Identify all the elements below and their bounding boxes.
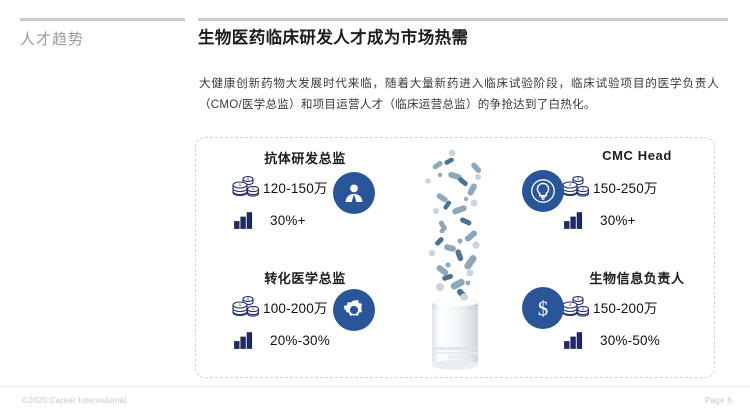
coin-stack-icon: $$$ — [562, 174, 592, 199]
svg-text:$: $ — [239, 303, 241, 307]
page-number: Page 6 — [705, 396, 732, 405]
copyright-text: ©2020 Career International — [22, 396, 126, 405]
coin-stack-icon: $$$ — [562, 294, 592, 319]
role-growth: 30%+ — [232, 212, 306, 229]
role-salary: $$$ 100-200万 — [232, 294, 328, 319]
bar-chart-icon — [564, 212, 583, 229]
svg-text:$: $ — [577, 297, 579, 301]
page-title: 生物医药临床研发人才成为市场热需 — [198, 24, 468, 48]
dollar-icon: $ — [530, 295, 556, 321]
coin-stack-icon: $$$ — [232, 174, 262, 199]
header-rule-left — [20, 18, 185, 21]
growth-value: 30%-50% — [600, 333, 660, 348]
salary-value: 120-150万 — [263, 177, 328, 197]
role-salary: $$$ 150-250万 — [562, 174, 658, 199]
growth-value: 30%+ — [600, 213, 636, 228]
header-rule-right — [198, 18, 728, 21]
section-kicker: 人才趋势 — [20, 28, 84, 49]
svg-text:$: $ — [252, 187, 254, 191]
svg-text:$: $ — [569, 303, 571, 307]
gear-icon-badge — [333, 289, 375, 331]
footer-divider — [0, 386, 750, 387]
svg-text:$: $ — [569, 183, 571, 187]
svg-text:$: $ — [582, 307, 584, 311]
bar-chart-icon — [564, 332, 583, 349]
svg-text:$: $ — [247, 297, 249, 301]
svg-text:$: $ — [239, 183, 241, 187]
growth-value: 30%+ — [270, 213, 306, 228]
intro-paragraph: 大健康创新药物大发展时代来临，随着大量新药进入临床试验阶段，临床试验项目的医学负… — [199, 73, 719, 115]
lightbulb-icon-badge — [522, 170, 564, 212]
person-icon — [342, 181, 366, 205]
gear-icon — [341, 297, 367, 323]
role-title: CMC Head — [552, 148, 722, 163]
bar-chart-icon — [234, 332, 253, 349]
bar-chart-icon — [234, 212, 253, 229]
growth-value: 20%-30% — [270, 333, 330, 348]
coin-stack-icon: $$$ — [232, 294, 262, 319]
svg-text:$: $ — [577, 177, 579, 181]
lightbulb-icon — [530, 178, 556, 204]
role-title: 转化医学总监 — [220, 268, 390, 287]
salary-value: 150-250万 — [593, 177, 658, 197]
dollar-icon-badge: $ — [522, 287, 564, 329]
svg-text:$: $ — [538, 297, 549, 321]
role-salary: $$$ 120-150万 — [232, 174, 328, 199]
role-growth: 20%-30% — [232, 332, 330, 349]
svg-text:$: $ — [252, 307, 254, 311]
svg-text:$: $ — [582, 187, 584, 191]
slide-header: 人才趋势 生物医药临床研发人才成为市场热需 — [0, 0, 750, 62]
svg-text:$: $ — [247, 177, 249, 181]
role-growth: 30%+ — [562, 212, 636, 229]
salary-value: 150-200万 — [593, 297, 658, 317]
role-growth: 30%-50% — [562, 332, 660, 349]
salary-value: 100-200万 — [263, 297, 328, 317]
person-icon-badge — [333, 172, 375, 214]
role-title: 抗体研发总监 — [220, 148, 390, 167]
role-title: 生物信息负责人 — [552, 268, 722, 287]
role-salary: $$$ 150-200万 — [562, 294, 658, 319]
